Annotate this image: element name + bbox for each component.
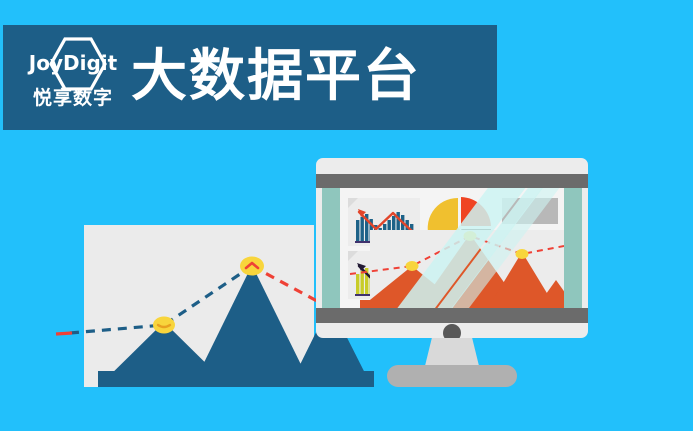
poster-canvas: JoyDigit 悦享数字 大数据平台	[0, 0, 693, 431]
monitor-bottom-bar	[316, 308, 588, 323]
logo-wordmark: JoyDigit	[17, 53, 129, 73]
monitor-screen	[322, 188, 582, 308]
trend-line-red-stub	[56, 333, 72, 334]
monitor-base	[387, 365, 517, 387]
page-title: 大数据平台	[131, 41, 421, 113]
monitor-top-bar	[316, 174, 588, 188]
monitor-frame	[316, 158, 588, 338]
orange-marker-1	[406, 261, 419, 271]
mountain-peak-2	[192, 265, 312, 387]
brand-logo: JoyDigit 悦享数字	[17, 33, 127, 123]
logo-subtitle: 悦享数字	[17, 87, 129, 109]
mountain-base-band	[98, 371, 374, 387]
screen-side-strip-right	[564, 188, 582, 308]
orange-marker-3	[516, 249, 529, 259]
screen-side-strip-left	[322, 188, 340, 308]
header-banner: JoyDigit 悦享数字 大数据平台	[3, 25, 497, 130]
